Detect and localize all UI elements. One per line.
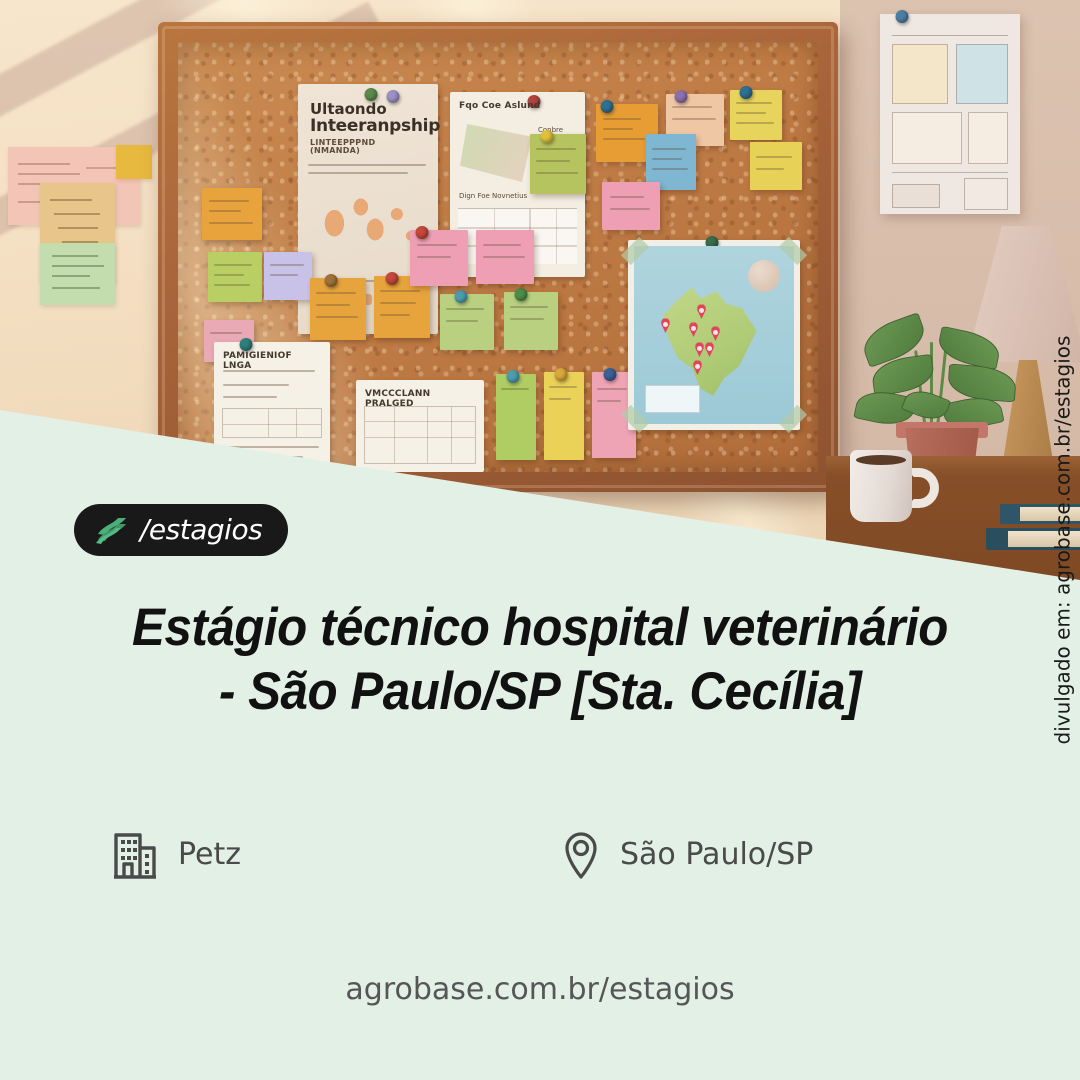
footer-url[interactable]: agrobase.com.br/estagios — [0, 972, 1080, 1007]
brand-badge-label: /estagios — [140, 516, 262, 544]
job-meta: Petz São Paulo/SP — [112, 830, 972, 880]
meta-location: São Paulo/SP — [562, 830, 813, 880]
location-name: São Paulo/SP — [620, 840, 813, 870]
brand-badge[interactable]: /estagios — [74, 504, 288, 556]
stacked-waves-icon — [94, 516, 130, 544]
company-name: Petz — [178, 840, 241, 870]
page-title: Estágio técnico hospital veterinário - S… — [94, 596, 987, 723]
building-icon — [112, 830, 158, 880]
page-title-line2: - São Paulo/SP [Sta. Cecília] — [94, 660, 987, 724]
job-card: Ultaondo Inteeranpship LINTEEPPPND (NMAN… — [0, 0, 1080, 1080]
side-credit-label: divulgado em: agrobase.com.br/estagios — [1050, 336, 1074, 745]
page-title-line1: Estágio técnico hospital veterinário — [94, 596, 987, 660]
side-credit: divulgado em: agrobase.com.br/estagios — [1042, 0, 1080, 1080]
meta-company: Petz — [112, 830, 562, 880]
map-pin-icon — [562, 830, 600, 880]
content-layer: /estagios Estágio técnico hospital veter… — [0, 0, 1080, 1080]
